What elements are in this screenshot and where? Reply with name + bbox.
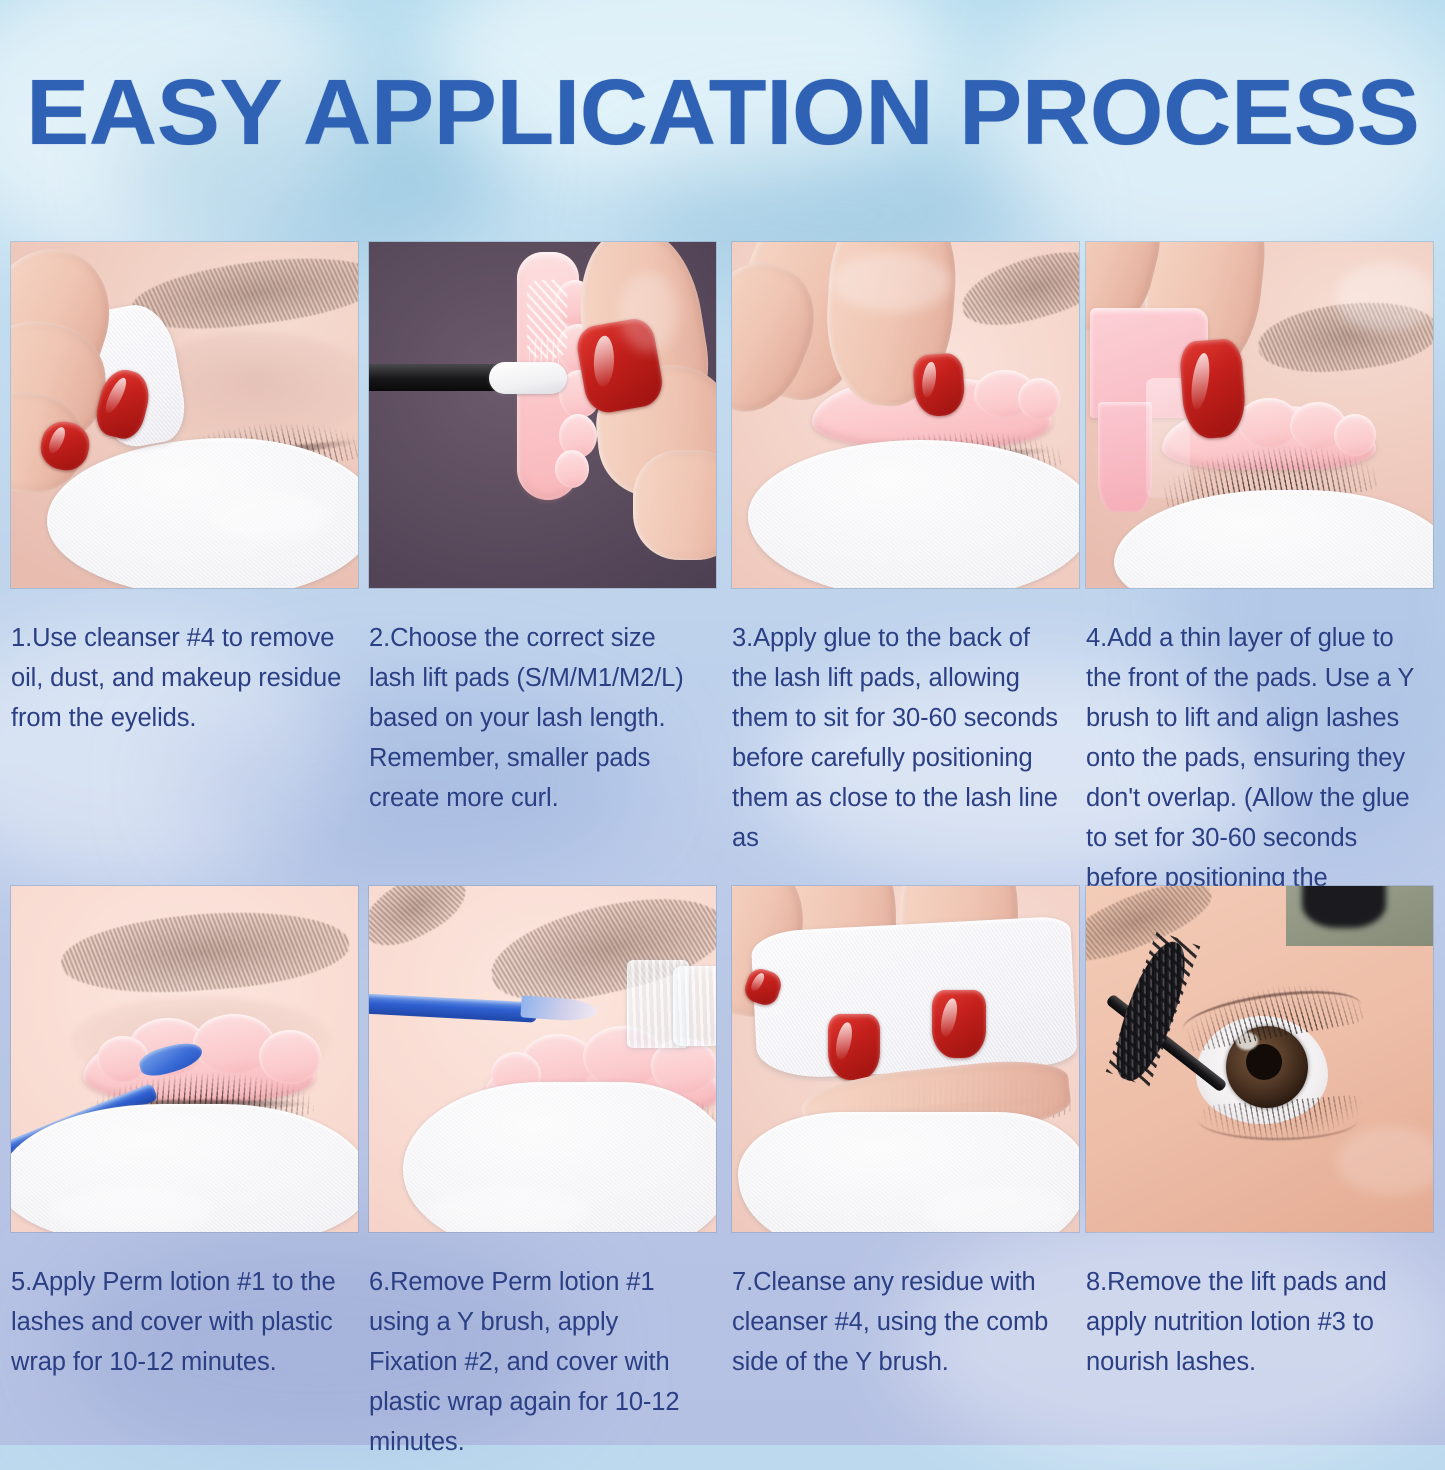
step-image-2 <box>369 242 716 588</box>
step-caption-1: 1.Use cleanser #4 to remove oil, dust, a… <box>11 618 347 738</box>
step-caption-5: 5.Apply Perm lotion #1 to the lashes and… <box>11 1262 347 1382</box>
step-card-8: 8.Remove the lift pads and apply nutriti… <box>1086 886 1433 1382</box>
step-card-1: 1.Use cleanser #4 to remove oil, dust, a… <box>11 242 358 738</box>
step-card-3: 3.Apply glue to the back of the lash lif… <box>732 242 1079 858</box>
step-image-7 <box>732 886 1079 1232</box>
step-card-7: 7.Cleanse any residue with cleanser #4, … <box>732 886 1079 1382</box>
red-nail <box>828 1014 880 1080</box>
applicator-tip <box>489 362 567 394</box>
step-image-3 <box>732 242 1079 588</box>
step-caption-3: 3.Apply glue to the back of the lash lif… <box>732 618 1068 858</box>
red-nail <box>932 990 986 1058</box>
under-eye-patch <box>748 440 1079 588</box>
pupil <box>1246 1044 1282 1080</box>
cotton-pad <box>750 916 1077 1081</box>
applicator-stick <box>369 364 499 391</box>
step-image-4 <box>1086 242 1433 588</box>
step-image-6 <box>369 886 716 1232</box>
step-card-4: 4.Add a thin layer of glue to the front … <box>1086 242 1433 938</box>
plastic-wrap <box>673 966 716 1046</box>
step-card-6: 6.Remove Perm lotion #1 using a Y brush,… <box>369 886 716 1462</box>
y-applicator-tool-stem <box>1098 402 1152 512</box>
step-caption-2: 2.Choose the correct size lash lift pads… <box>369 618 705 818</box>
step-image-5 <box>11 886 358 1232</box>
page-title: EASY APPLICATION PROCESS <box>26 62 1445 162</box>
step-caption-6: 6.Remove Perm lotion #1 using a Y brush,… <box>369 1262 705 1462</box>
step-image-1 <box>11 242 358 588</box>
step-image-8 <box>1086 886 1433 1232</box>
step-card-5: 5.Apply Perm lotion #1 to the lashes and… <box>11 886 358 1382</box>
step-caption-8: 8.Remove the lift pads and apply nutriti… <box>1086 1262 1422 1382</box>
steps-grid: 1.Use cleanser #4 to remove oil, dust, a… <box>0 0 1445 1445</box>
finger <box>633 450 716 560</box>
step-card-2: 2.Choose the correct size lash lift pads… <box>369 242 716 818</box>
step-caption-7: 7.Cleanse any residue with cleanser #4, … <box>732 1262 1068 1382</box>
